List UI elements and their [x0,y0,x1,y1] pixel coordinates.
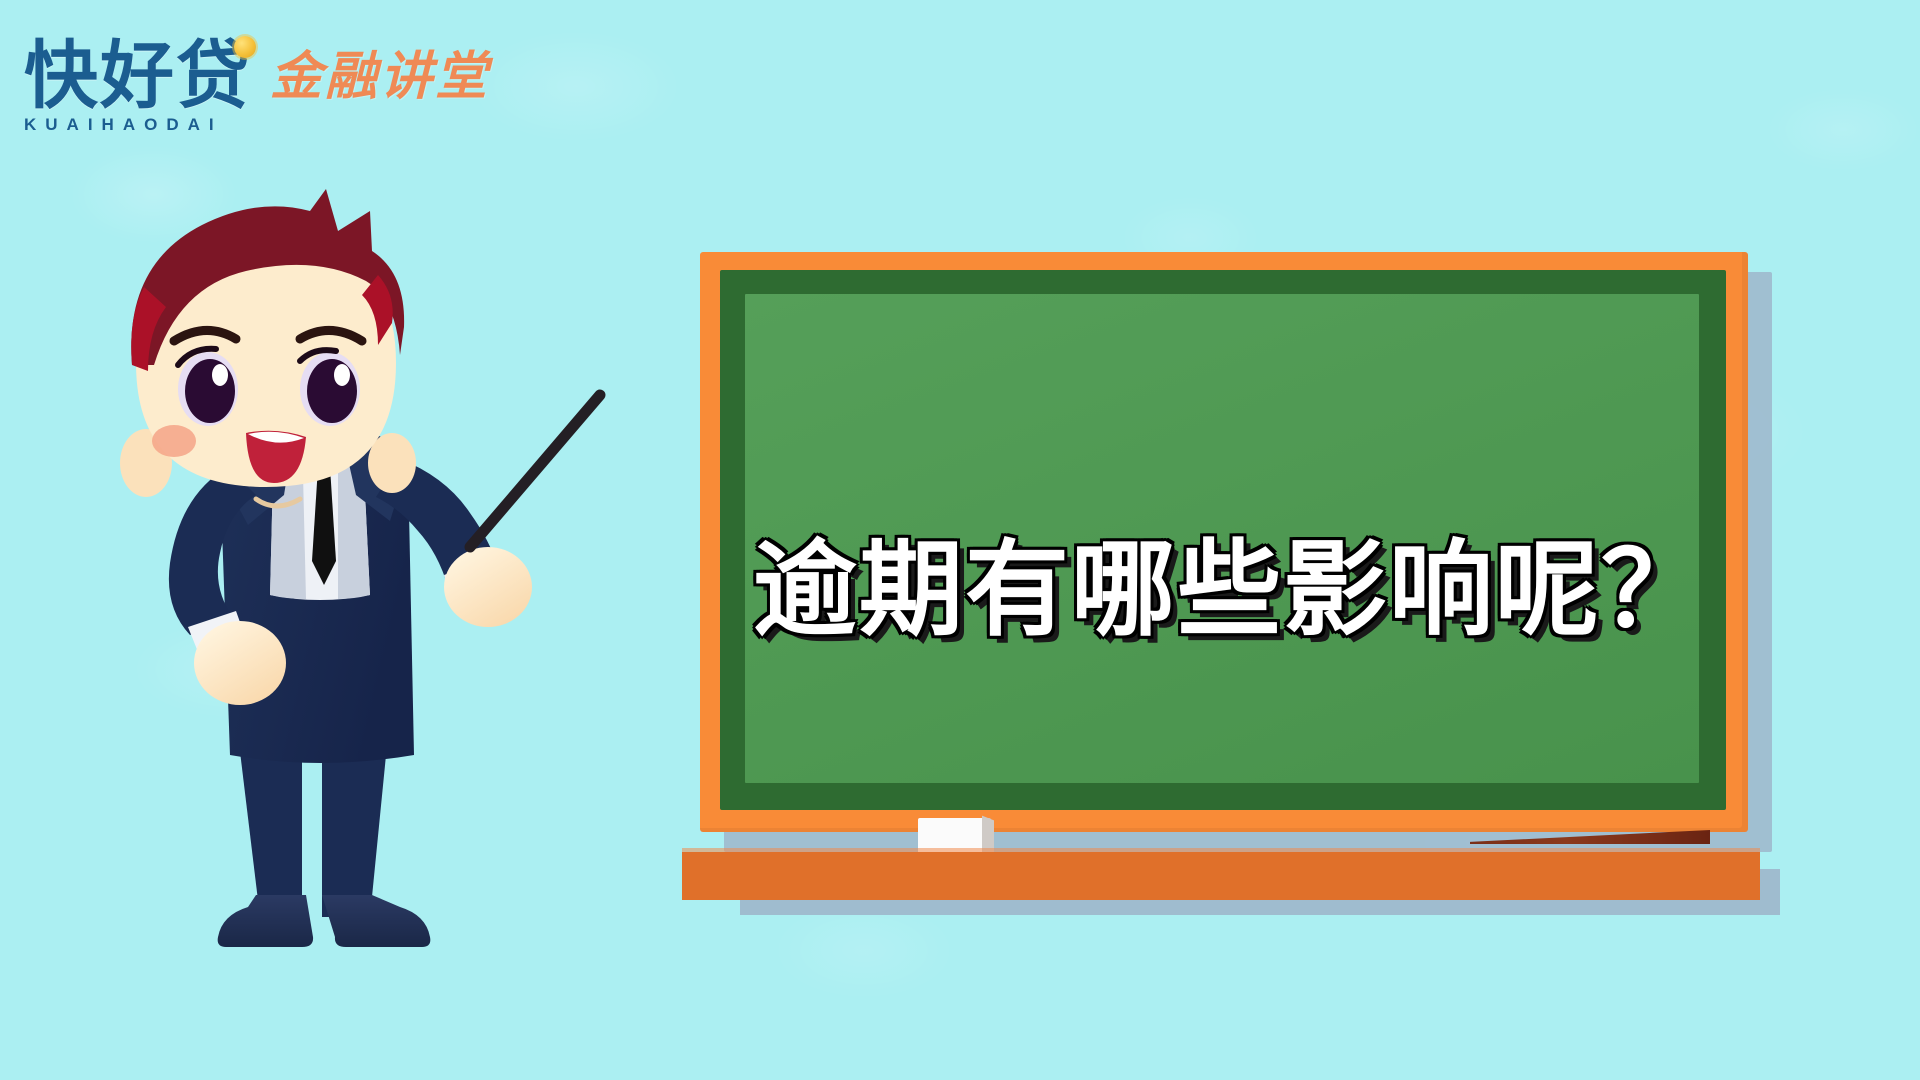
brand-logo-main: 快好贷 KUAIHAODAI [24,40,252,135]
scene-stage: 快好贷 KUAIHAODAI 金融讲堂 逾期有哪些影响呢？ [0,0,1920,1080]
mascot-legs [218,735,431,947]
brand-name-cn: 快好贷 [24,40,252,113]
brand-name-romanization: KUAIHAODAI [24,115,252,135]
brand-subtitle: 金融讲堂 [270,34,490,135]
blackboard: 逾期有哪些影响呢？ [700,252,1760,902]
coin-icon [234,36,256,58]
brand-logo: 快好贷 KUAIHAODAI 金融讲堂 [24,34,490,135]
mascot-head [120,189,416,506]
blackboard-headline: 逾期有哪些影响呢？ [732,535,1728,644]
pointer-stick-icon [470,395,600,547]
blackboard-ledge [682,852,1760,900]
teacher-mascot [70,195,590,1000]
